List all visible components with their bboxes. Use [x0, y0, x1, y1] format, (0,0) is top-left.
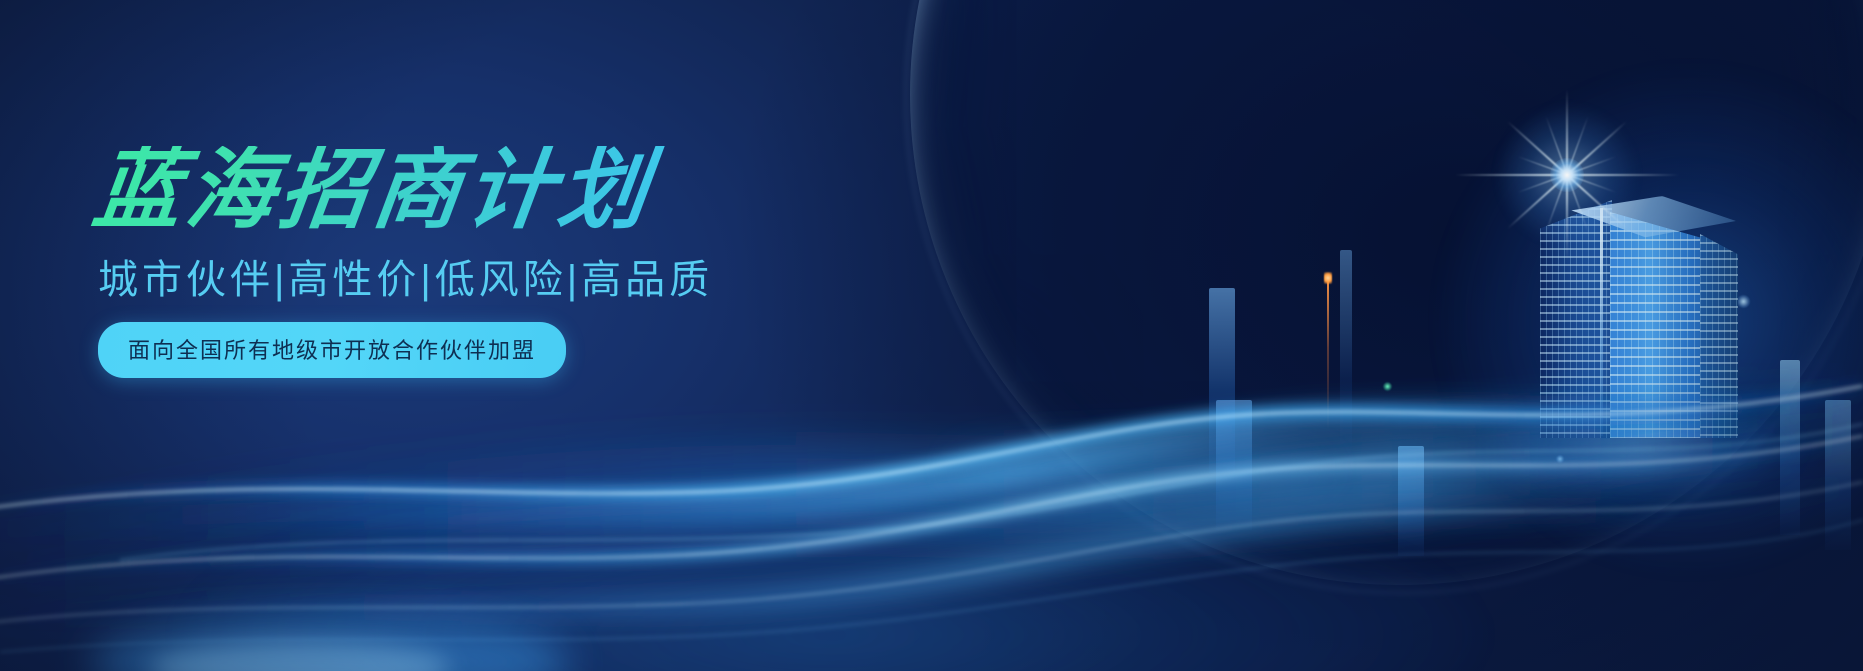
- banner-subtitle: 城市伙伴|高性价|低风险|高品质: [98, 260, 794, 300]
- banner-content: 蓝海招商计划 城市伙伴|高性价|低风险|高品质 面向全国所有地级市开放合作伙伴加…: [94, 146, 794, 378]
- marketing-banner: 蓝海招商计划 城市伙伴|高性价|低风险|高品质 面向全国所有地级市开放合作伙伴加…: [0, 0, 1863, 671]
- page-title: 蓝海招商计划: [89, 146, 800, 234]
- cta-pill-badge[interactable]: 面向全国所有地级市开放合作伙伴加盟: [98, 322, 566, 378]
